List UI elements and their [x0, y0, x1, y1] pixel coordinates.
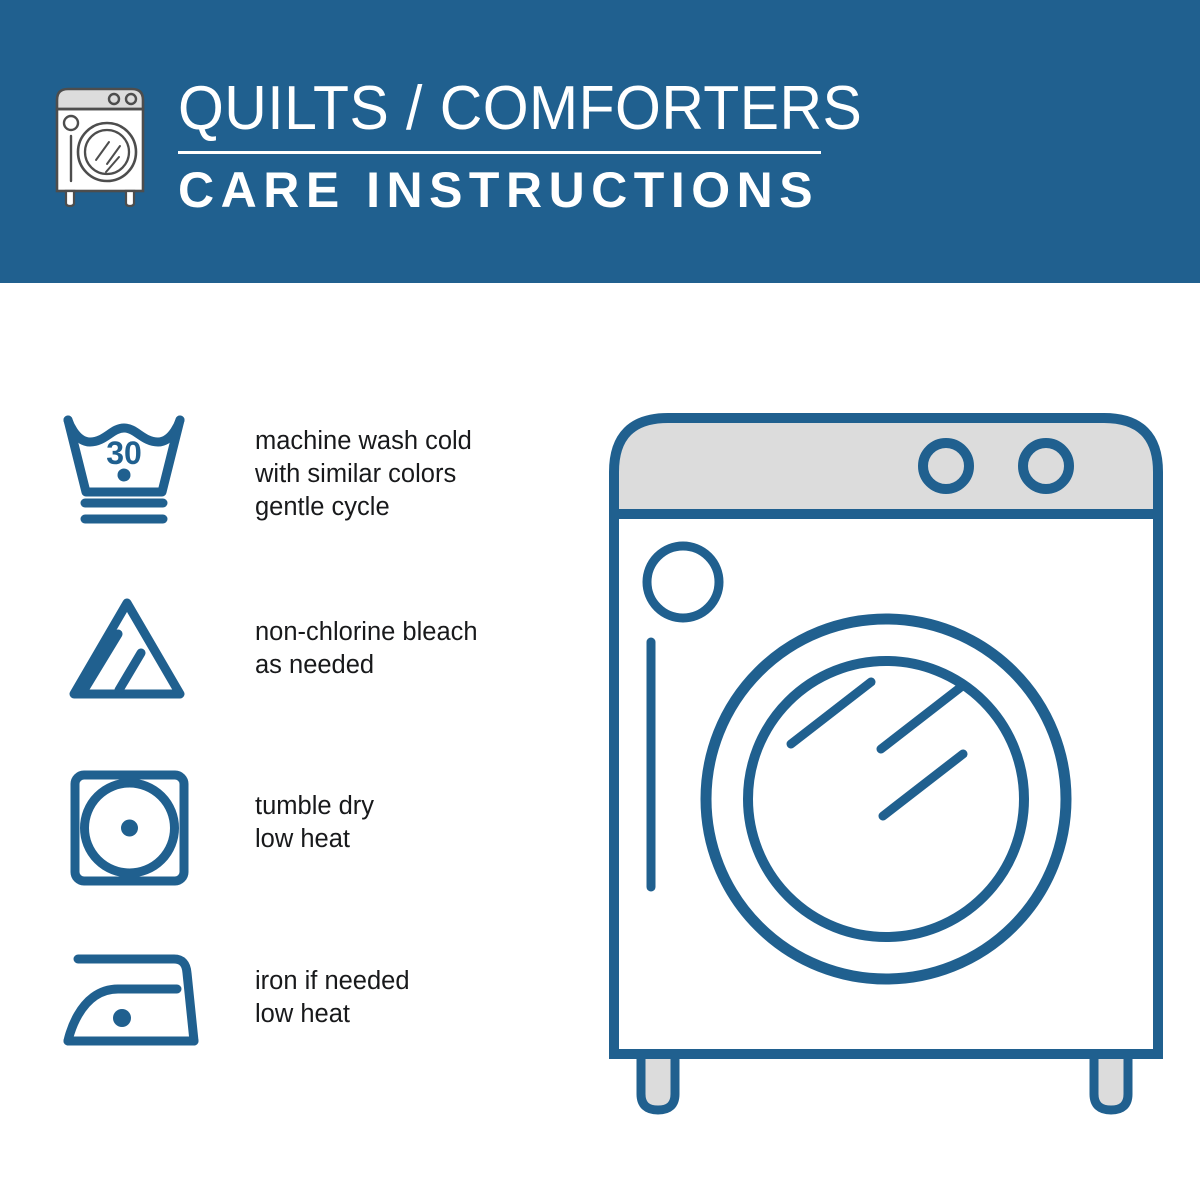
- machine-body: [614, 514, 1158, 1054]
- care-item-label: iron if needed low heat: [255, 965, 410, 1031]
- header-title-block: QUILTS / COMFORTERS CARE INSTRUCTIONS: [178, 78, 898, 216]
- care-item: tumble dry low heat: [56, 758, 536, 933]
- tumble-dry-heat-dot: [121, 820, 138, 837]
- wash-temperature-label: 30: [106, 435, 142, 471]
- care-item-label: machine wash cold with similar colors ge…: [255, 425, 472, 524]
- care-item: iron if needed low heat: [56, 933, 536, 1108]
- washing-machine-illustration: [596, 404, 1176, 1124]
- page-header: QUILTS / COMFORTERS CARE INSTRUCTIONS: [0, 0, 1200, 283]
- page-subtitle: CARE INSTRUCTIONS: [178, 164, 898, 216]
- machine-control-panel: [614, 418, 1158, 514]
- care-item-label: tumble dry low heat: [255, 790, 374, 856]
- iron-low-heat-icon: [56, 947, 206, 1072]
- iron-heat-dot: [113, 1009, 131, 1027]
- title-divider: [178, 151, 821, 154]
- care-item: 30 machine wash cold with similar colors…: [56, 408, 536, 583]
- care-item-label: non-chlorine bleach as needed: [255, 616, 478, 682]
- care-item: non-chlorine bleach as needed: [56, 583, 536, 758]
- page-title: QUILTS / COMFORTERS: [178, 78, 862, 140]
- wash-tub-30-gentle-icon: 30: [56, 408, 206, 533]
- care-instructions-list: 30 machine wash cold with similar colors…: [56, 408, 536, 1108]
- header-content: QUILTS / COMFORTERS CARE INSTRUCTIONS: [52, 78, 898, 216]
- wash-dot: [118, 469, 131, 482]
- washing-machine-icon: [52, 80, 156, 208]
- non-chlorine-bleach-triangle-icon: [62, 591, 212, 716]
- tumble-dry-low-icon: [64, 767, 214, 892]
